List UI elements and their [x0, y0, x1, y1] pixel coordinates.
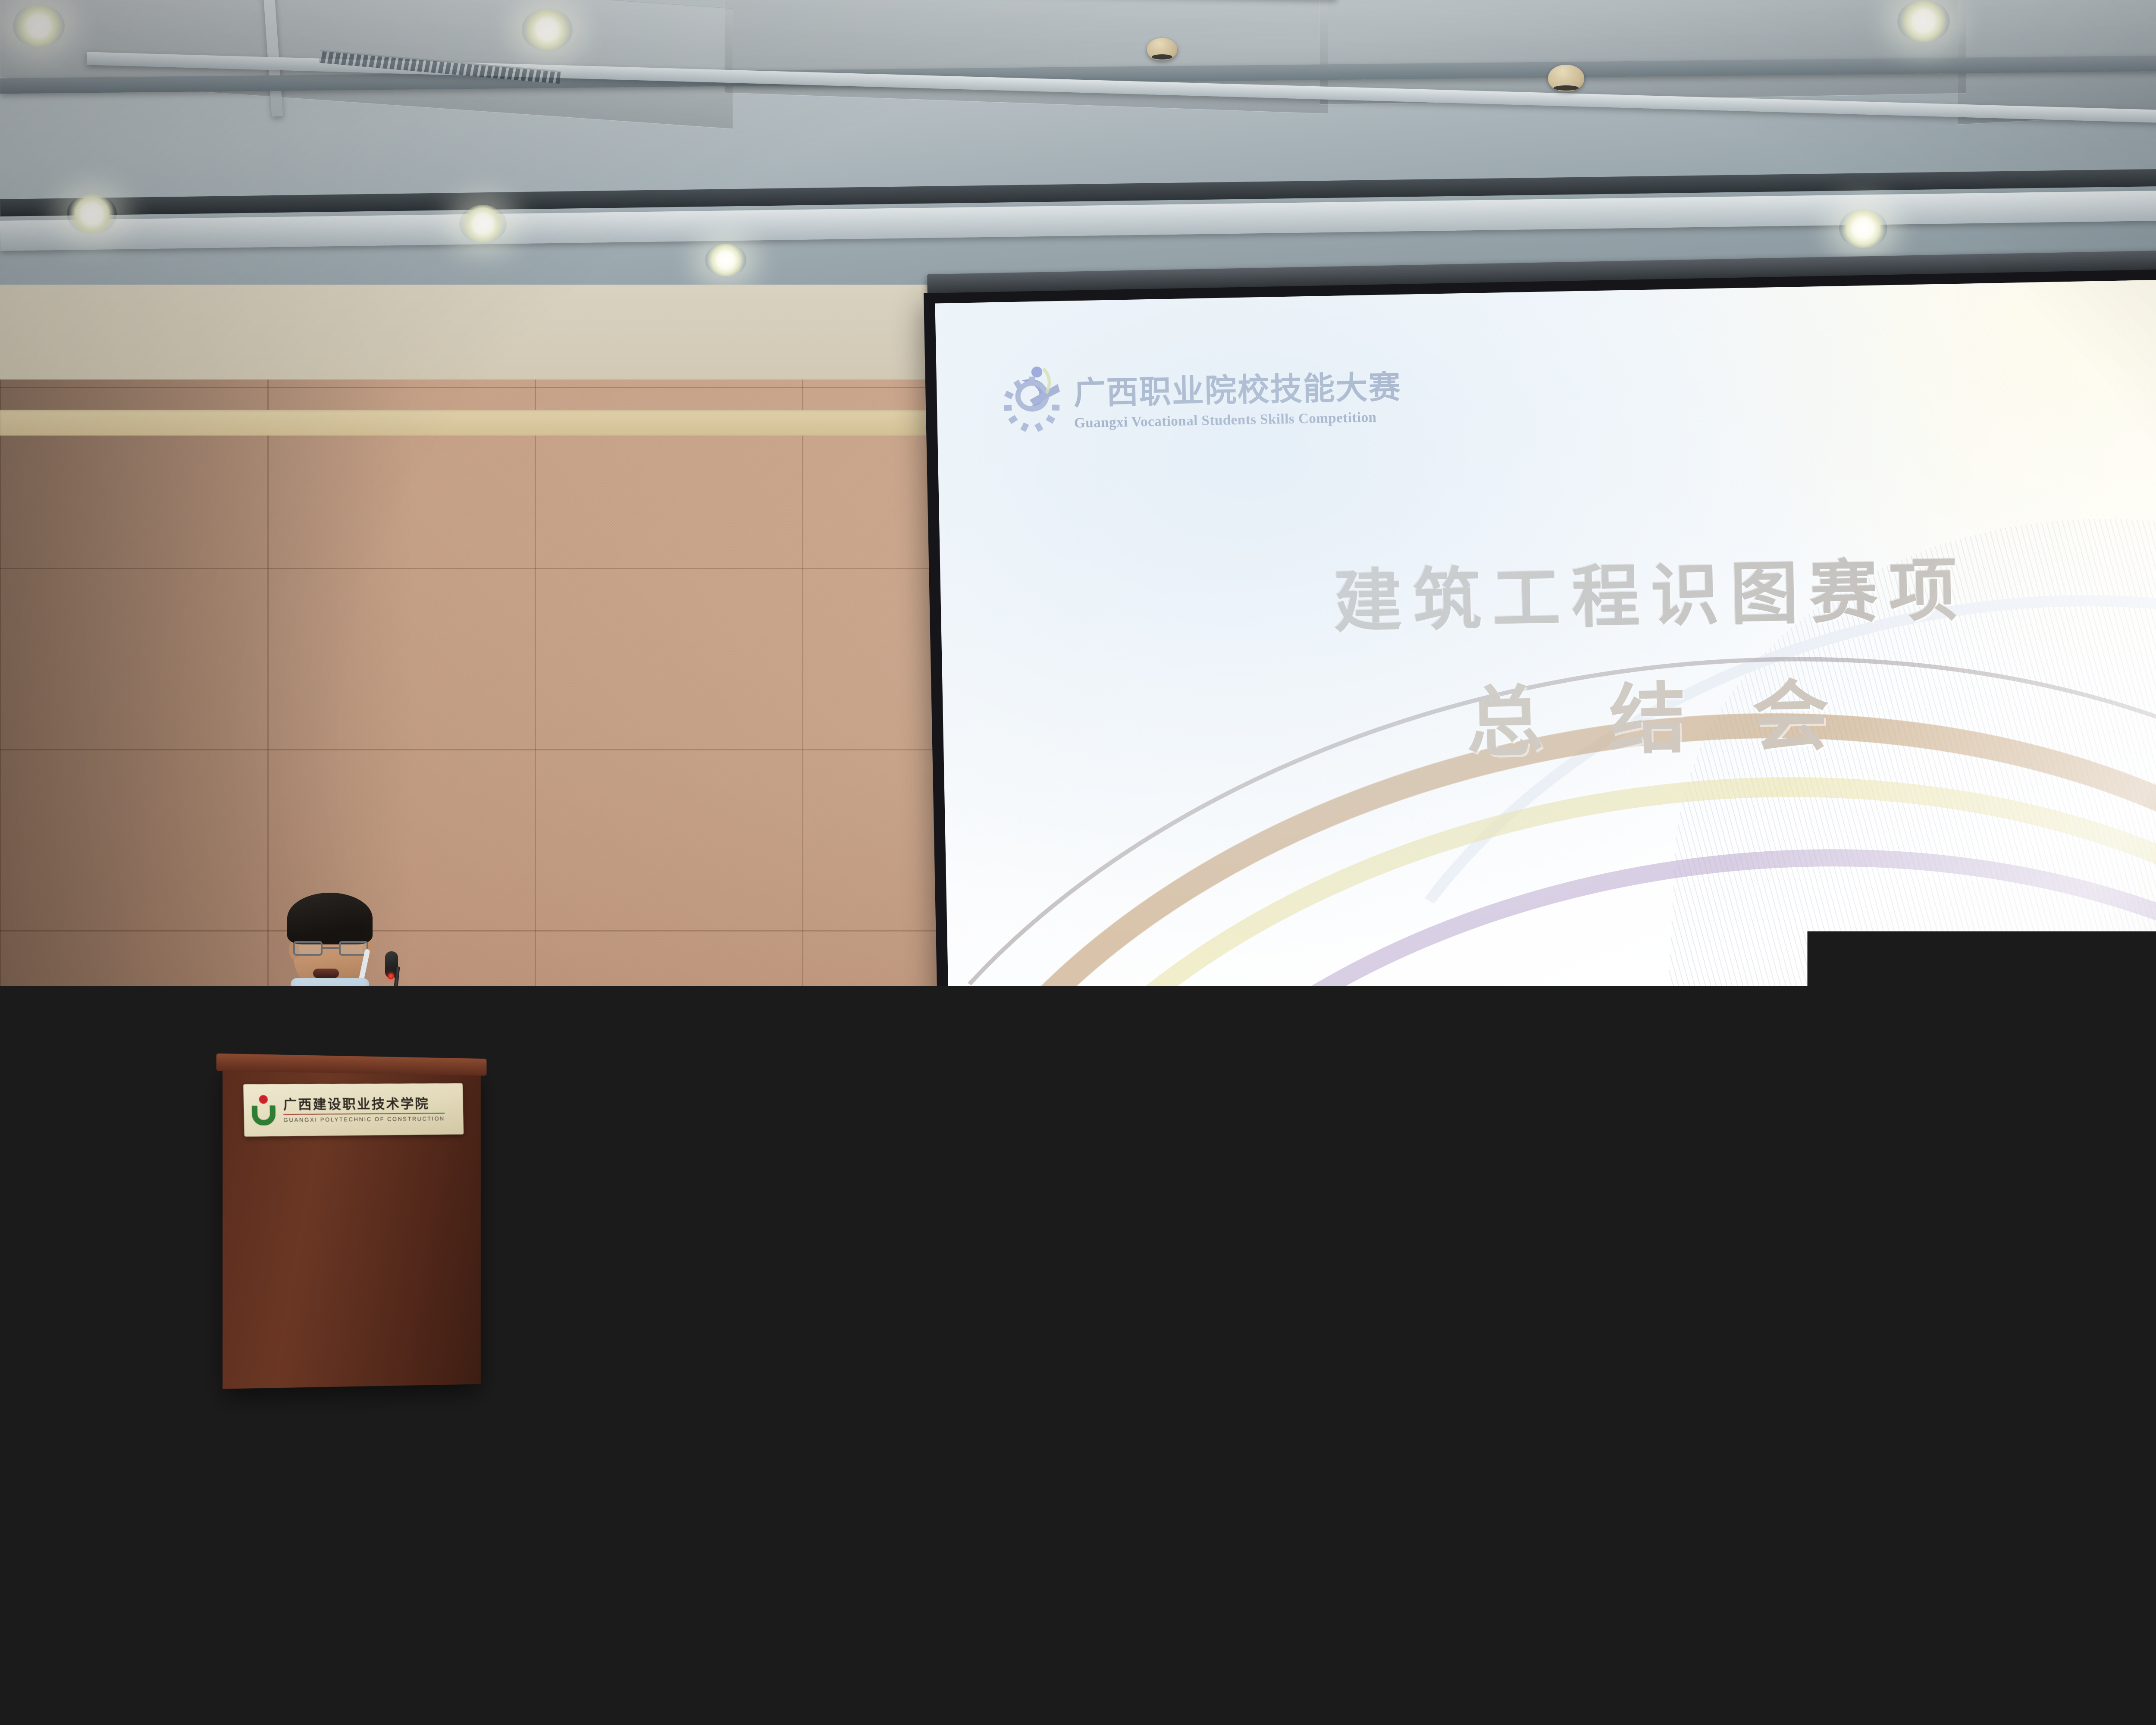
audience-head: [813, 1285, 885, 1316]
chair-logo: 广西建设职业技术学院 GUANGXI POLYTECHNIC OF CONSTR…: [204, 1638, 311, 1652]
desk-top-edge: [725, 1160, 1250, 1179]
audience-head: [1522, 1285, 1587, 1339]
audience-seating: 广西建设职业技术学院 GUANGXI POLYTECHNIC OF CONSTR…: [0, 1285, 2156, 1725]
slide-footer-block: 广西建设职业技术学院 2020年10月18日: [1309, 1038, 1578, 1126]
chair-logo-en: GUANGXI POLYTECHNIC OF CONSTRUCTION: [1648, 1707, 1751, 1711]
auditorium-scene: 广西职业院校技能大赛 Guangxi Vocational Students S…: [0, 0, 2156, 1725]
face-mask-icon: [291, 978, 369, 1018]
chair-cover[interactable]: 广西建设职业技术学院 GUANGXI POLYTECHNIC OF CONSTR…: [1225, 1434, 1384, 1542]
chair-logo-en: GUANGXI POLYTECHNIC OF CONSTRUCTION: [6, 1643, 109, 1648]
chair-cover[interactable]: 广西建设职业技术学院 GUANGXI POLYTECHNIC OF CONSTR…: [1613, 1669, 1839, 1725]
ceiling-downlight: [705, 244, 746, 276]
audience-head: [556, 1285, 626, 1317]
chair-cover[interactable]: 广西建设职业技术学院 GUANGXI POLYTECHNIC OF CONSTR…: [1220, 1578, 1410, 1708]
audience-head: [65, 1285, 136, 1320]
eyeglasses-icon: [292, 941, 369, 957]
chair-cover[interactable]: 广西建设职业技术学院 GUANGXI POLYTECHNIC OF CONSTR…: [461, 1436, 621, 1544]
microphone-led-icon: [388, 973, 394, 979]
competition-logo: 广西职业院校技能大赛 Guangxi Vocational Students S…: [996, 359, 1402, 435]
speaker-hair: [287, 893, 373, 944]
ceiling-downlight: [459, 205, 507, 243]
chair-logo: 广西建设职业技术学院 GUANGXI POLYTECHNIC OF CONSTR…: [2063, 1358, 2156, 1371]
ceiling-downlight: [522, 9, 573, 51]
audience-shoulders: [707, 1565, 906, 1673]
chair-logo: 广西建设职业技术学院 GUANGXI POLYTECHNIC OF CONSTR…: [478, 1496, 585, 1510]
chair-logo-en: GUANGXI POLYTECHNIC OF CONSTRUCTION: [587, 1702, 690, 1706]
slide-date: 2020年10月18日: [1310, 1086, 1577, 1126]
gear-figure-logo-icon: [996, 366, 1062, 435]
chair-cover[interactable]: 广西建设职业技术学院 GUANGXI POLYTECHNIC OF CONSTR…: [2048, 1307, 2156, 1401]
ceiling-downlight: [1897, 0, 1950, 42]
ceiling-downlight: [67, 194, 117, 234]
audience-head: [160, 1285, 235, 1305]
chair-logo: 广西建设职业技术学院 GUANGXI POLYTECHNIC OF CONSTR…: [1241, 1494, 1348, 1508]
smoke-detector: [1147, 38, 1177, 60]
slide-title-line1: 建筑工程识图赛项: [940, 527, 2156, 653]
audience-shoulders: [1718, 1440, 1891, 1535]
wall-socket[interactable]: [1595, 1216, 1626, 1250]
chair-logo: 广西建设职业技术学院 GUANGXI POLYTECHNIC OF CONSTR…: [1239, 1651, 1346, 1665]
audience-head: [1496, 1626, 1613, 1725]
chair-logo: 广西建设职业技术学院 GUANGXI POLYTECHNIC OF CONSTR…: [574, 1690, 681, 1704]
projection-screen-surface[interactable]: 广西职业院校技能大赛 Guangxi Vocational Students S…: [935, 276, 2156, 1200]
slide-organization: 广西建设职业技术学院: [1309, 1038, 1577, 1081]
audience-head: [1475, 1479, 1573, 1595]
plaque-divider: [283, 1113, 445, 1115]
speaker-mouth: [313, 969, 339, 978]
projection-screen-frame: 广西职业院校技能大赛 Guangxi Vocational Students S…: [924, 266, 2156, 1211]
lectern-plaque: 广西建设职业技术学院 GUANGXI POLYTECHNIC OF CONSTR…: [243, 1083, 464, 1137]
chair-logo-en: GUANGXI POLYTECHNIC OF CONSTRUCTION: [1254, 1505, 1357, 1510]
chair-logo-en: GUANGXI POLYTECHNIC OF CONSTRUCTION: [491, 1508, 594, 1512]
school-logo-icon: [250, 1094, 278, 1126]
ceiling-downlight: [13, 4, 65, 47]
chair-logo: 广西建设职业技术学院 GUANGXI POLYTECHNIC OF CONSTR…: [0, 1632, 100, 1646]
competition-logo-cn: 广西职业院校技能大赛: [1073, 361, 1402, 414]
audience-head: [1044, 1350, 1126, 1451]
audience-head: [1561, 1341, 1644, 1442]
audience-head: [388, 1358, 470, 1458]
chair-logo: 广西建设职业技术学院 GUANGXI POLYTECHNIC OF CONSTR…: [1635, 1696, 1742, 1709]
chair-logo: 广西建设职业技术学院 GUANGXI POLYTECHNIC OF CONSTR…: [836, 1489, 943, 1502]
plaque-english-name: GUANGXI POLYTECHNIC OF CONSTRUCTION: [283, 1116, 445, 1123]
chair-cover[interactable]: 广西建设职业技术学院 GUANGXI POLYTECHNIC OF CONSTR…: [819, 1427, 981, 1537]
slide-title-line2: 总 结 会: [942, 644, 2156, 782]
chair-cover[interactable]: 广西建设职业技术学院 GUANGXI POLYTECHNIC OF CONSTR…: [185, 1565, 375, 1695]
smoke-detector: [1548, 65, 1584, 91]
desk-microphone-head: [1016, 1075, 1026, 1095]
chair-cover[interactable]: 广西建设职业技术学院 GUANGXI POLYTECHNIC OF CONSTR…: [552, 1665, 776, 1725]
chair-logo: 广西建设职业技术学院 GUANGXI POLYTECHNIC OF CONSTR…: [515, 1643, 622, 1657]
audience-head: [310, 1285, 384, 1309]
smartphone-screen[interactable]: [627, 1490, 652, 1505]
chair-logo-en: GUANGXI POLYTECHNIC OF CONSTRUCTION: [528, 1654, 631, 1659]
chair-logo-en: GUANGXI POLYTECHNIC OF CONSTRUCTION: [2076, 1369, 2156, 1373]
audience-head: [673, 1339, 755, 1439]
chair-cover[interactable]: 广西建设职业技术学院 GUANGXI POLYTECHNIC OF CONSTR…: [1936, 1430, 2098, 1540]
chair-logo-en: GUANGXI POLYTECHNIC OF CONSTRUCTION: [1965, 1502, 2068, 1506]
chair-logo-en: GUANGXI POLYTECHNIC OF CONSTRUCTION: [1252, 1662, 1355, 1666]
chair-logo-en: GUANGXI POLYTECHNIC OF CONSTRUCTION: [849, 1500, 952, 1504]
audience-head: [229, 1345, 313, 1447]
audience-head: [1457, 1285, 1528, 1311]
audience-head: [379, 1613, 496, 1725]
plaque-chinese-name: 广西建设职业技术学院: [283, 1097, 445, 1111]
audience-head: [1906, 1285, 1980, 1306]
chair-logo: 广西建设职业技术学院 GUANGXI POLYTECHNIC OF CONSTR…: [1952, 1491, 2059, 1505]
slide-title-block: 建筑工程识图赛项 总 结 会: [940, 527, 2156, 782]
chair-cover[interactable]: 广西建设职业技术学院 GUANGXI POLYTECHNIC OF CONSTR…: [0, 1561, 164, 1690]
chair-cover[interactable]: 广西建设职业技术学院 GUANGXI POLYTECHNIC OF CONSTR…: [2134, 1660, 2156, 1725]
chair-logo-en: GUANGXI POLYTECHNIC OF CONSTRUCTION: [217, 1649, 320, 1653]
ceiling-downlight: [1839, 209, 1887, 248]
